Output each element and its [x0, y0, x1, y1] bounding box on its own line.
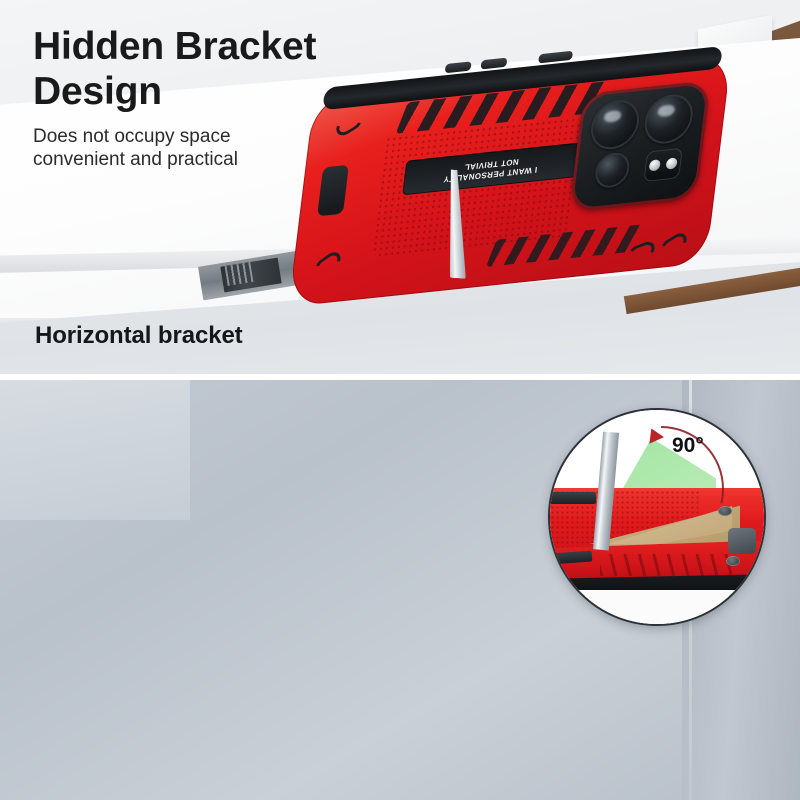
- panel-horizontal-bracket: Hidden Bracket Design Does not occupy sp…: [0, 0, 800, 374]
- title-line-1: Hidden Bracket: [33, 24, 316, 69]
- subtitle-line-1: Does not occupy space: [33, 125, 316, 148]
- camera-module: [569, 80, 711, 212]
- kickstand-angle-magnifier: 90°: [548, 408, 766, 626]
- case-corner-detail: [334, 110, 364, 138]
- subtitle-line-2: convenient and practical: [33, 148, 316, 171]
- case-screw-detail: [718, 506, 732, 516]
- camera-lens-wide: [588, 98, 642, 152]
- case-corner-detail: [313, 249, 343, 278]
- case-ridges: [600, 554, 732, 576]
- case-screw-detail: [726, 556, 740, 566]
- section-label-horizontal: Horizontal bracket: [35, 322, 243, 350]
- power-button: [538, 51, 573, 64]
- page-title: Hidden Bracket Design Does not occupy sp…: [33, 24, 316, 171]
- subtitle: Does not occupy space convenient and pra…: [33, 125, 316, 171]
- desk-slot-lines: [225, 262, 254, 286]
- camera-lens-ultrawide: [642, 92, 696, 146]
- panel-divider: [0, 374, 800, 380]
- lens-glint: [604, 110, 622, 123]
- product-infographic: Hidden Bracket Design Does not occupy sp…: [0, 0, 800, 800]
- title-line-2: Design: [33, 69, 316, 114]
- wall-left: [0, 380, 190, 520]
- case-grey-pad: [728, 528, 756, 554]
- camera-flash-icon: [643, 148, 683, 182]
- case-side-pad: [317, 165, 349, 217]
- lens-glint: [658, 104, 676, 117]
- angle-label: 90°: [672, 434, 704, 458]
- camera-lens-macro: [593, 151, 631, 189]
- case-dark-tab: [550, 492, 596, 504]
- case-corner-detail: [659, 230, 689, 258]
- inset-surface: [548, 590, 766, 626]
